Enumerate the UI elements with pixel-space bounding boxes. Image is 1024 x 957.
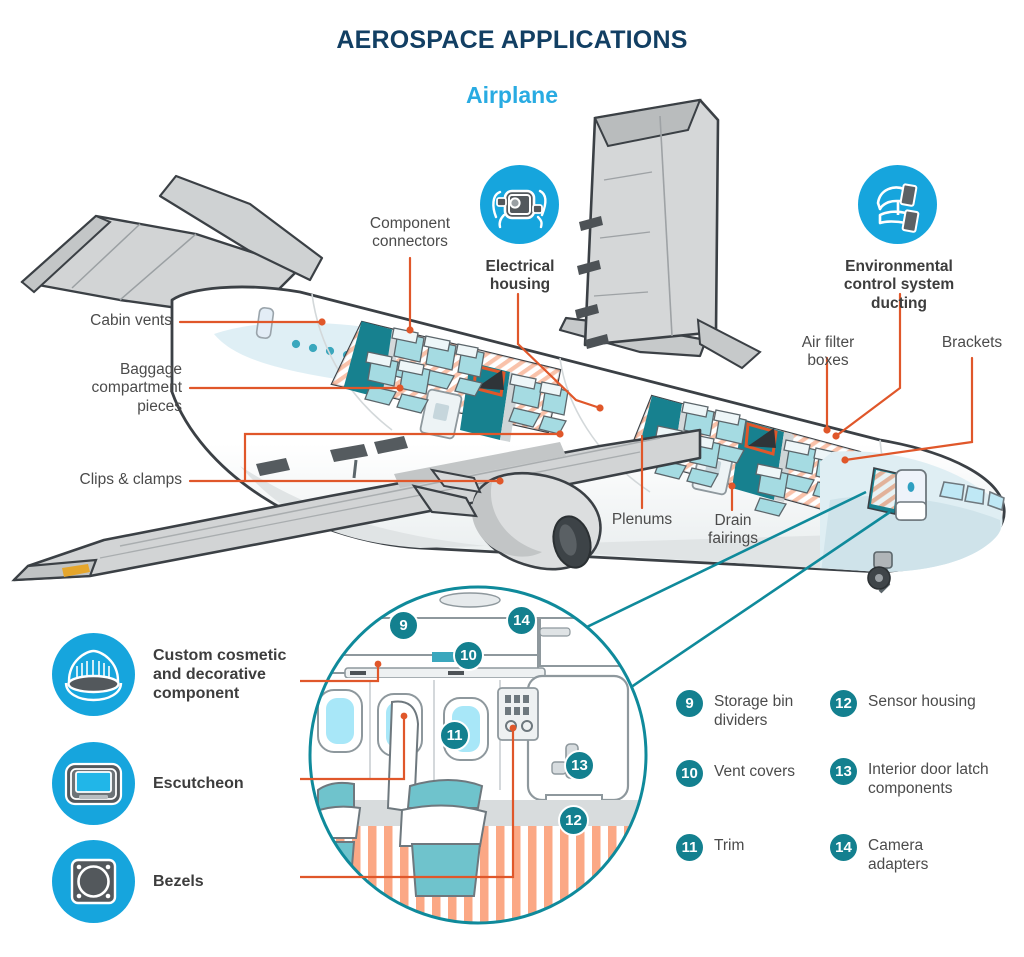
duct-icon: [858, 165, 937, 244]
side-card-bezels: Bezels: [52, 840, 204, 923]
infographic-root: AEROSPACE APPLICATIONS Airplane Componen…: [0, 0, 1024, 957]
callout-component-connectors: Component connectors: [340, 215, 480, 252]
legend-label-12: Sensor housing: [868, 690, 976, 712]
detail-marker-13[interactable]: 13: [564, 750, 595, 781]
legend-number-9: 9: [676, 690, 703, 717]
detail-marker-9[interactable]: 9: [388, 610, 419, 641]
legend-label-11: Trim: [714, 834, 744, 856]
legend-number-14: 14: [830, 834, 857, 861]
side-card-custom-cosmetic: Custom cosmetic and decorative component: [52, 633, 363, 716]
side-card-escutcheon: Escutcheon: [52, 742, 244, 825]
legend-label-10: Vent covers: [714, 760, 795, 782]
legend-item-9[interactable]: 9 Storage bin dividers: [676, 690, 846, 730]
decorative-dome-icon: [52, 633, 135, 716]
callout-drain-fairings: Drain fairings: [674, 512, 792, 549]
legend-item-11[interactable]: 11 Trim: [676, 834, 846, 861]
legend-label-14: Camera adapters: [868, 834, 928, 874]
legend-label-13: Interior door latch components: [868, 758, 989, 798]
vertical-stabilizer: [575, 100, 760, 368]
legend-number-11: 11: [676, 834, 703, 861]
icon-callout-label-ecs-ducting: Environmental control system ducting: [824, 258, 974, 313]
legend-label-9: Storage bin dividers: [714, 690, 793, 730]
legend-number-10: 10: [676, 760, 703, 787]
detail-marker-14[interactable]: 14: [506, 605, 537, 636]
bezel-icon: [52, 840, 135, 923]
legend-number-12: 12: [830, 690, 857, 717]
callout-air-filter-boxes: Air filter boxes: [768, 334, 888, 371]
legend-item-12[interactable]: 12 Sensor housing: [830, 690, 1020, 717]
escutcheon-icon: [52, 742, 135, 825]
icon-callout-label-electrical-housing: Electrical housing: [458, 258, 582, 295]
legend-number-13: 13: [830, 758, 857, 785]
side-card-label-escutcheon: Escutcheon: [153, 774, 244, 793]
detail-marker-12[interactable]: 12: [558, 805, 589, 836]
callout-cabin-vents: Cabin vents: [0, 312, 172, 330]
electrical-housing-icon: [480, 165, 559, 244]
legend-item-13[interactable]: 13 Interior door latch components: [830, 758, 1020, 798]
page-subtitle: Airplane: [0, 82, 1024, 109]
callout-baggage-compartment-pieces: Baggage compartment pieces: [0, 361, 182, 416]
side-card-label-custom-cosmetic: Custom cosmetic and decorative component: [153, 646, 363, 704]
callout-brackets: Brackets: [916, 334, 1024, 352]
legend-item-10[interactable]: 10 Vent covers: [676, 760, 846, 787]
callout-clips-and-clamps: Clips & clamps: [0, 471, 182, 489]
nose-section: [820, 440, 1020, 592]
detail-marker-11[interactable]: 11: [439, 720, 470, 751]
main-landing-gear: [354, 460, 356, 478]
legend-item-14[interactable]: 14 Camera adapters: [830, 834, 1020, 874]
page-title: AEROSPACE APPLICATIONS: [0, 26, 1024, 55]
detail-marker-10[interactable]: 10: [453, 640, 484, 671]
side-card-label-bezels: Bezels: [153, 872, 204, 891]
